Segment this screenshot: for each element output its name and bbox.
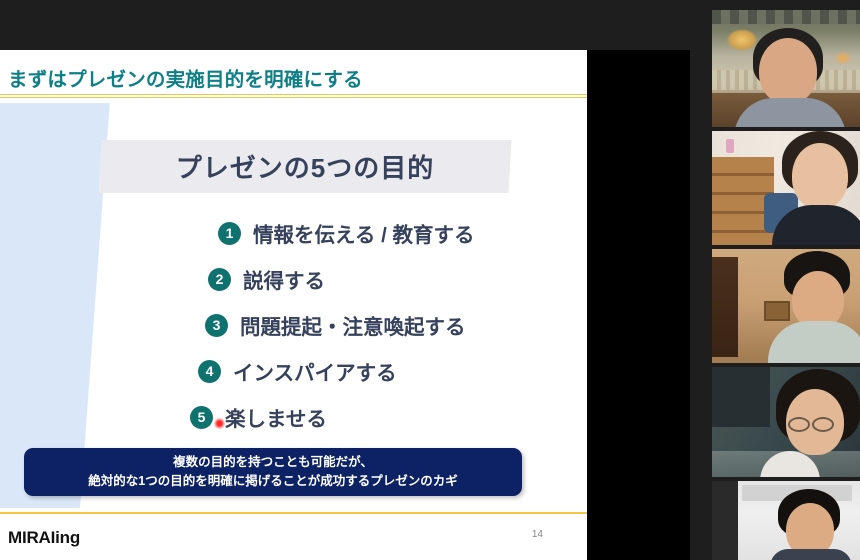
list-item-label: 問題提起・注意喚起する [240,310,466,340]
list-item-label: インスパイアする [233,356,397,386]
callout-line-2: 絶対的な1つの目的を明確に掲げることが成功するプレゼンのカギ [88,472,457,491]
list-item-number: 4 [198,360,221,383]
slide-page-number: 14 [532,529,543,540]
participant-rail [712,0,860,560]
list-item: 3 問題提起・注意喚起する [205,302,587,348]
brand-logo: MIRAIing [8,528,80,548]
callout-line-1: 複数の目的を持つことも可能だが、 [173,453,373,472]
participant-video-4 [712,367,860,477]
title-divider [0,94,587,98]
meeting-window: まずはプレゼンの実施目的を明確にする プレゼンの5つの目的 1 情報を伝える /… [0,0,860,560]
list-item-number: 1 [218,222,241,245]
purpose-list: 1 情報を伝える / 教育する 2 説得する 3 問題提起・注意喚起する 4 イ… [0,210,587,440]
participant-tile-4[interactable] [712,367,860,477]
list-item-number: 3 [205,314,228,337]
list-item: 5 楽しませる [190,394,587,440]
list-item-label: 楽しませる [225,402,327,432]
slide-callout-banner: 複数の目的を持つことも可能だが、 絶対的な1つの目的を明確に掲げることが成功する… [24,448,522,496]
participant-tile-3[interactable] [712,249,860,363]
list-item: 4 インスパイアする [198,348,587,394]
list-item: 1 情報を伝える / 教育する [218,210,587,256]
slide-heading: プレゼンの5つの目的 [100,140,510,193]
list-item-number: 5 [190,406,213,429]
participant-tile-2[interactable] [712,131,860,245]
participant-video-2 [712,131,860,245]
shared-slide[interactable]: まずはプレゼンの実施目的を明確にする プレゼンの5つの目的 1 情報を伝える /… [0,50,587,560]
participant-video-1 [712,10,860,127]
list-item: 2 説得する [208,256,587,302]
list-item-label: 情報を伝える / 教育する [253,218,474,248]
participant-tile-1[interactable] [712,10,860,127]
participant-video-3 [712,249,860,363]
list-item-number: 2 [208,268,231,291]
footer-divider [0,512,587,514]
slide-title: まずはプレゼンの実施目的を明確にする [8,63,363,92]
list-item-label: 説得する [243,264,325,294]
participant-video-5 [712,481,860,560]
laser-pointer-icon [214,418,225,429]
participant-tile-5[interactable] [712,481,860,560]
